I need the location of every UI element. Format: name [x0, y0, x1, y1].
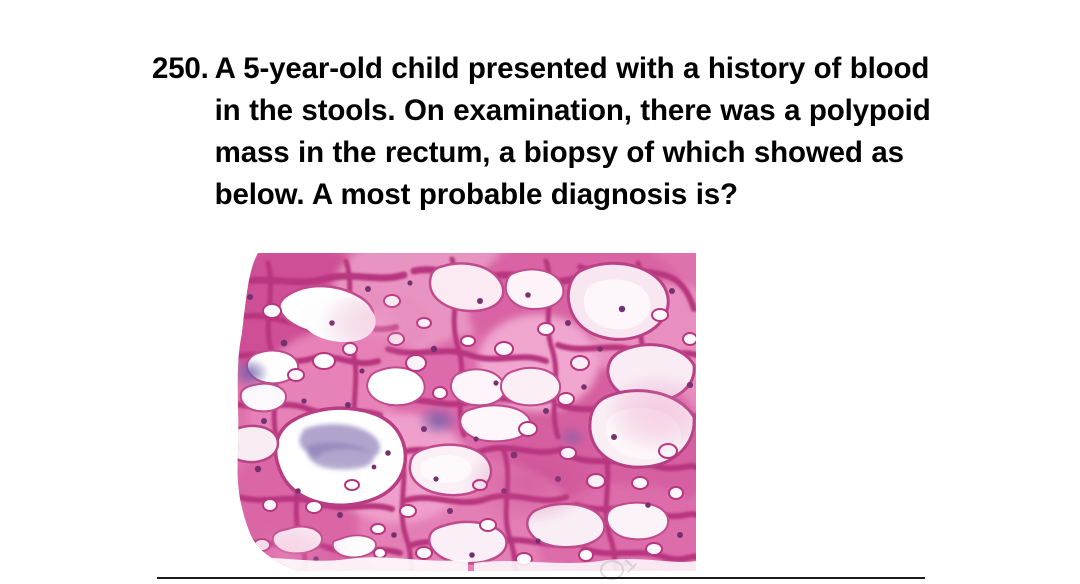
question-text: A 5-year-old child presented with a hist… — [215, 48, 952, 216]
histopathology-micrograph — [228, 253, 696, 571]
histopathology-micrograph-graphic — [228, 253, 696, 571]
question-block: 250. A 5-year-old child presented with a… — [152, 48, 952, 216]
question-number: 250. — [152, 48, 215, 90]
bottom-divider — [157, 577, 925, 579]
